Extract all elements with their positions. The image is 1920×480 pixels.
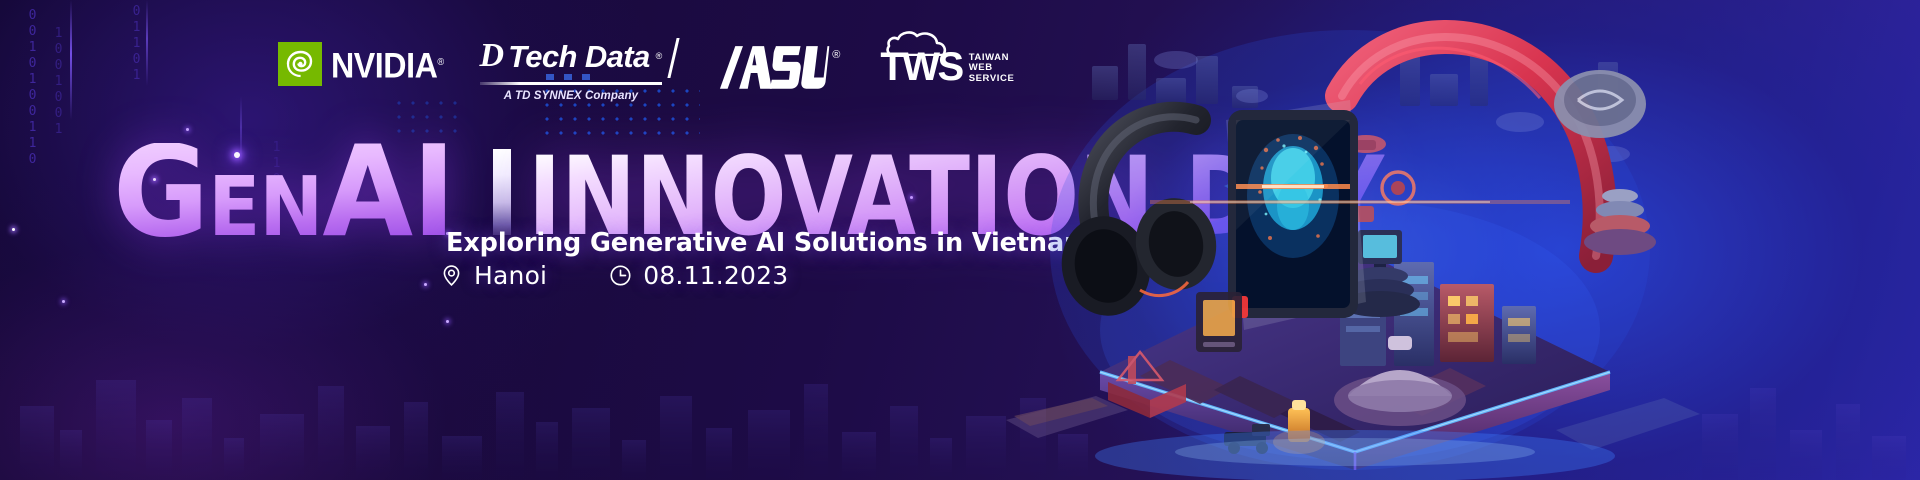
brand-title-genai: G EN AI xyxy=(113,143,455,241)
brand-letter-g: G xyxy=(113,143,208,241)
swirl-prop xyxy=(1554,70,1646,138)
clock-icon xyxy=(609,264,632,287)
glow-line-decor xyxy=(70,0,72,120)
event-date-label: 08.11.2023 xyxy=(643,261,788,290)
binary-decor-column-1: 0010100110 xyxy=(26,8,39,158)
location-pin-icon xyxy=(440,264,463,287)
brand-letters-ai: AI xyxy=(322,143,454,241)
sponsor-logo-nvidia: NVIDIA® xyxy=(278,42,454,86)
asus-wordmark xyxy=(718,44,829,101)
page-subtitle: Exploring Generative AI Solutions in Vie… xyxy=(446,228,1091,258)
ai-city-illustration xyxy=(1000,0,1700,480)
glow-line-decor xyxy=(146,0,148,86)
sponsor-logo-techdata: D Tech Data ® A TD SYNNEX Company xyxy=(480,39,663,102)
sparkle-decor xyxy=(446,320,449,323)
illustration-scene xyxy=(1000,0,1700,480)
registered-mark: ® xyxy=(656,51,663,61)
binary-decor-column-3: 01101 xyxy=(130,4,143,94)
cloud-icon xyxy=(886,30,948,56)
techdata-wordmark-text: Tech Data xyxy=(508,41,650,72)
registered-mark: ® xyxy=(437,57,443,68)
nvidia-wordmark-text: NVIDIA xyxy=(331,46,437,85)
event-meta-row: Hanoi 08.11.2023 xyxy=(440,261,788,290)
techdata-monogram: D xyxy=(480,39,503,73)
brand-letters-en: EN xyxy=(208,176,322,240)
sponsor-logo-row: NVIDIA® D Tech Data ® A TD SYNNEX Compan… xyxy=(278,35,1014,101)
sparkle-decor xyxy=(12,228,15,231)
techdata-slash-decor xyxy=(668,38,680,78)
event-location: Hanoi xyxy=(440,261,547,290)
binary-decor-column-2: 1001001 xyxy=(52,26,65,136)
sponsor-logo-tws: TWS TAIWAN WEB SERVICE xyxy=(880,47,1014,87)
event-date: 08.11.2023 xyxy=(609,261,788,290)
tablet-device xyxy=(1226,100,1366,330)
underbar-line xyxy=(480,82,663,85)
techdata-tagline: A TD SYNNEX Company xyxy=(480,90,663,102)
nvidia-eye-logo xyxy=(278,42,322,86)
techdata-wordmark: D Tech Data ® xyxy=(480,39,663,73)
sparkle-decor xyxy=(62,300,65,303)
techdata-underbar-decor xyxy=(480,76,663,85)
nvidia-eye-icon xyxy=(278,42,322,86)
underbar-square xyxy=(546,74,554,80)
nvidia-wordmark: NVIDIA® xyxy=(331,45,444,84)
sponsor-logo-asus: ® xyxy=(718,47,834,98)
registered-mark: ® xyxy=(832,49,840,61)
event-location-label: Hanoi xyxy=(474,261,547,290)
event-banner: 0010100110 1001001 01101 1100 NVID xyxy=(0,0,1920,480)
underbar-square xyxy=(582,74,590,80)
asus-wordmark-glyph xyxy=(718,44,829,93)
underbar-square xyxy=(564,74,572,80)
title-divider-bar xyxy=(493,149,511,235)
sparkle-decor xyxy=(424,283,427,286)
tws-tagline-line2: WEB xyxy=(969,62,993,73)
